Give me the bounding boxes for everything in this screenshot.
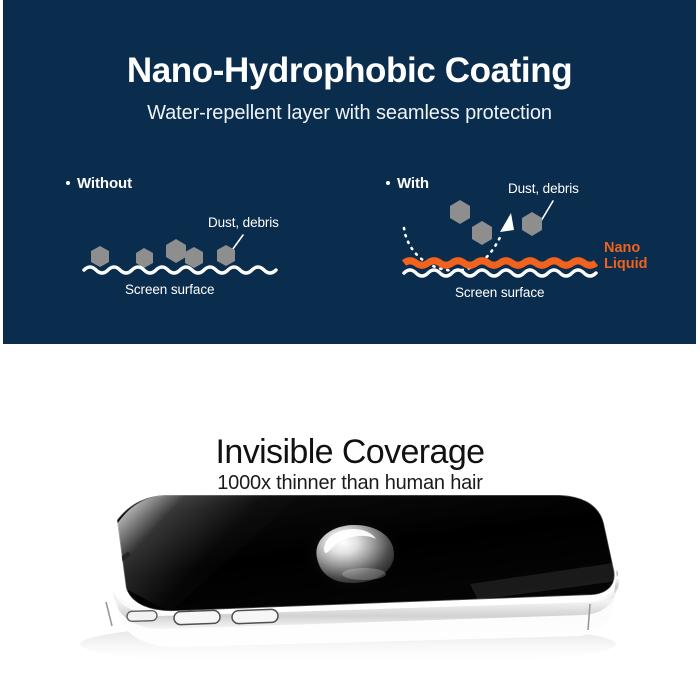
screen-surface-wave-without [84,267,276,273]
hexagon-particle-icon [522,212,542,236]
screen-surface-label-without: Screen surface [125,282,214,297]
front-camera-icon [114,546,118,550]
droplet-bottom-sheen [342,568,386,580]
antenna-line-left [106,602,112,626]
nano-liquid-band [404,261,596,266]
page-title: Nano-Hydrophobic Coating [3,49,696,93]
arrow-head-icon [500,213,514,232]
hexagon-particle-group-without [91,239,235,268]
diagram-without-graphic [58,175,358,320]
coverage-title: Invisible Coverage [0,431,700,473]
hexagon-particle-icon [166,239,186,263]
mute-switch-button[interactable] [127,610,157,621]
water-droplet-icon [302,516,402,592]
product-feature-page: Nano-Hydrophobic Coating Water-repellent… [0,0,700,700]
diagram-without: Without Dust, debris Screen surface [58,175,358,320]
phone-product-image [0,484,700,700]
screen-surface-label-with: Screen surface [455,285,544,300]
screen-surface-wave-with [404,270,596,276]
volume-down-button[interactable] [232,609,278,624]
phone-illustration [0,484,700,700]
diagram-with: With Dust, debris Nano Liquid [378,175,678,320]
hexagon-particle-icon [217,245,235,266]
volume-up-button[interactable] [174,610,220,625]
hexagon-particle-group-with [450,200,542,245]
hexagon-particle-icon [136,248,153,268]
hexagon-particle-icon [450,200,470,224]
hexagon-particle-icon [91,246,109,267]
hexagon-particle-icon [472,221,492,245]
hexagon-particle-icon [185,247,203,268]
page-subtitle: Water-repellent layer with seamless prot… [3,99,696,127]
hero-panel: Nano-Hydrophobic Coating Water-repellent… [3,0,696,344]
coverage-section: Invisible Coverage 1000x thinner than hu… [0,344,700,700]
